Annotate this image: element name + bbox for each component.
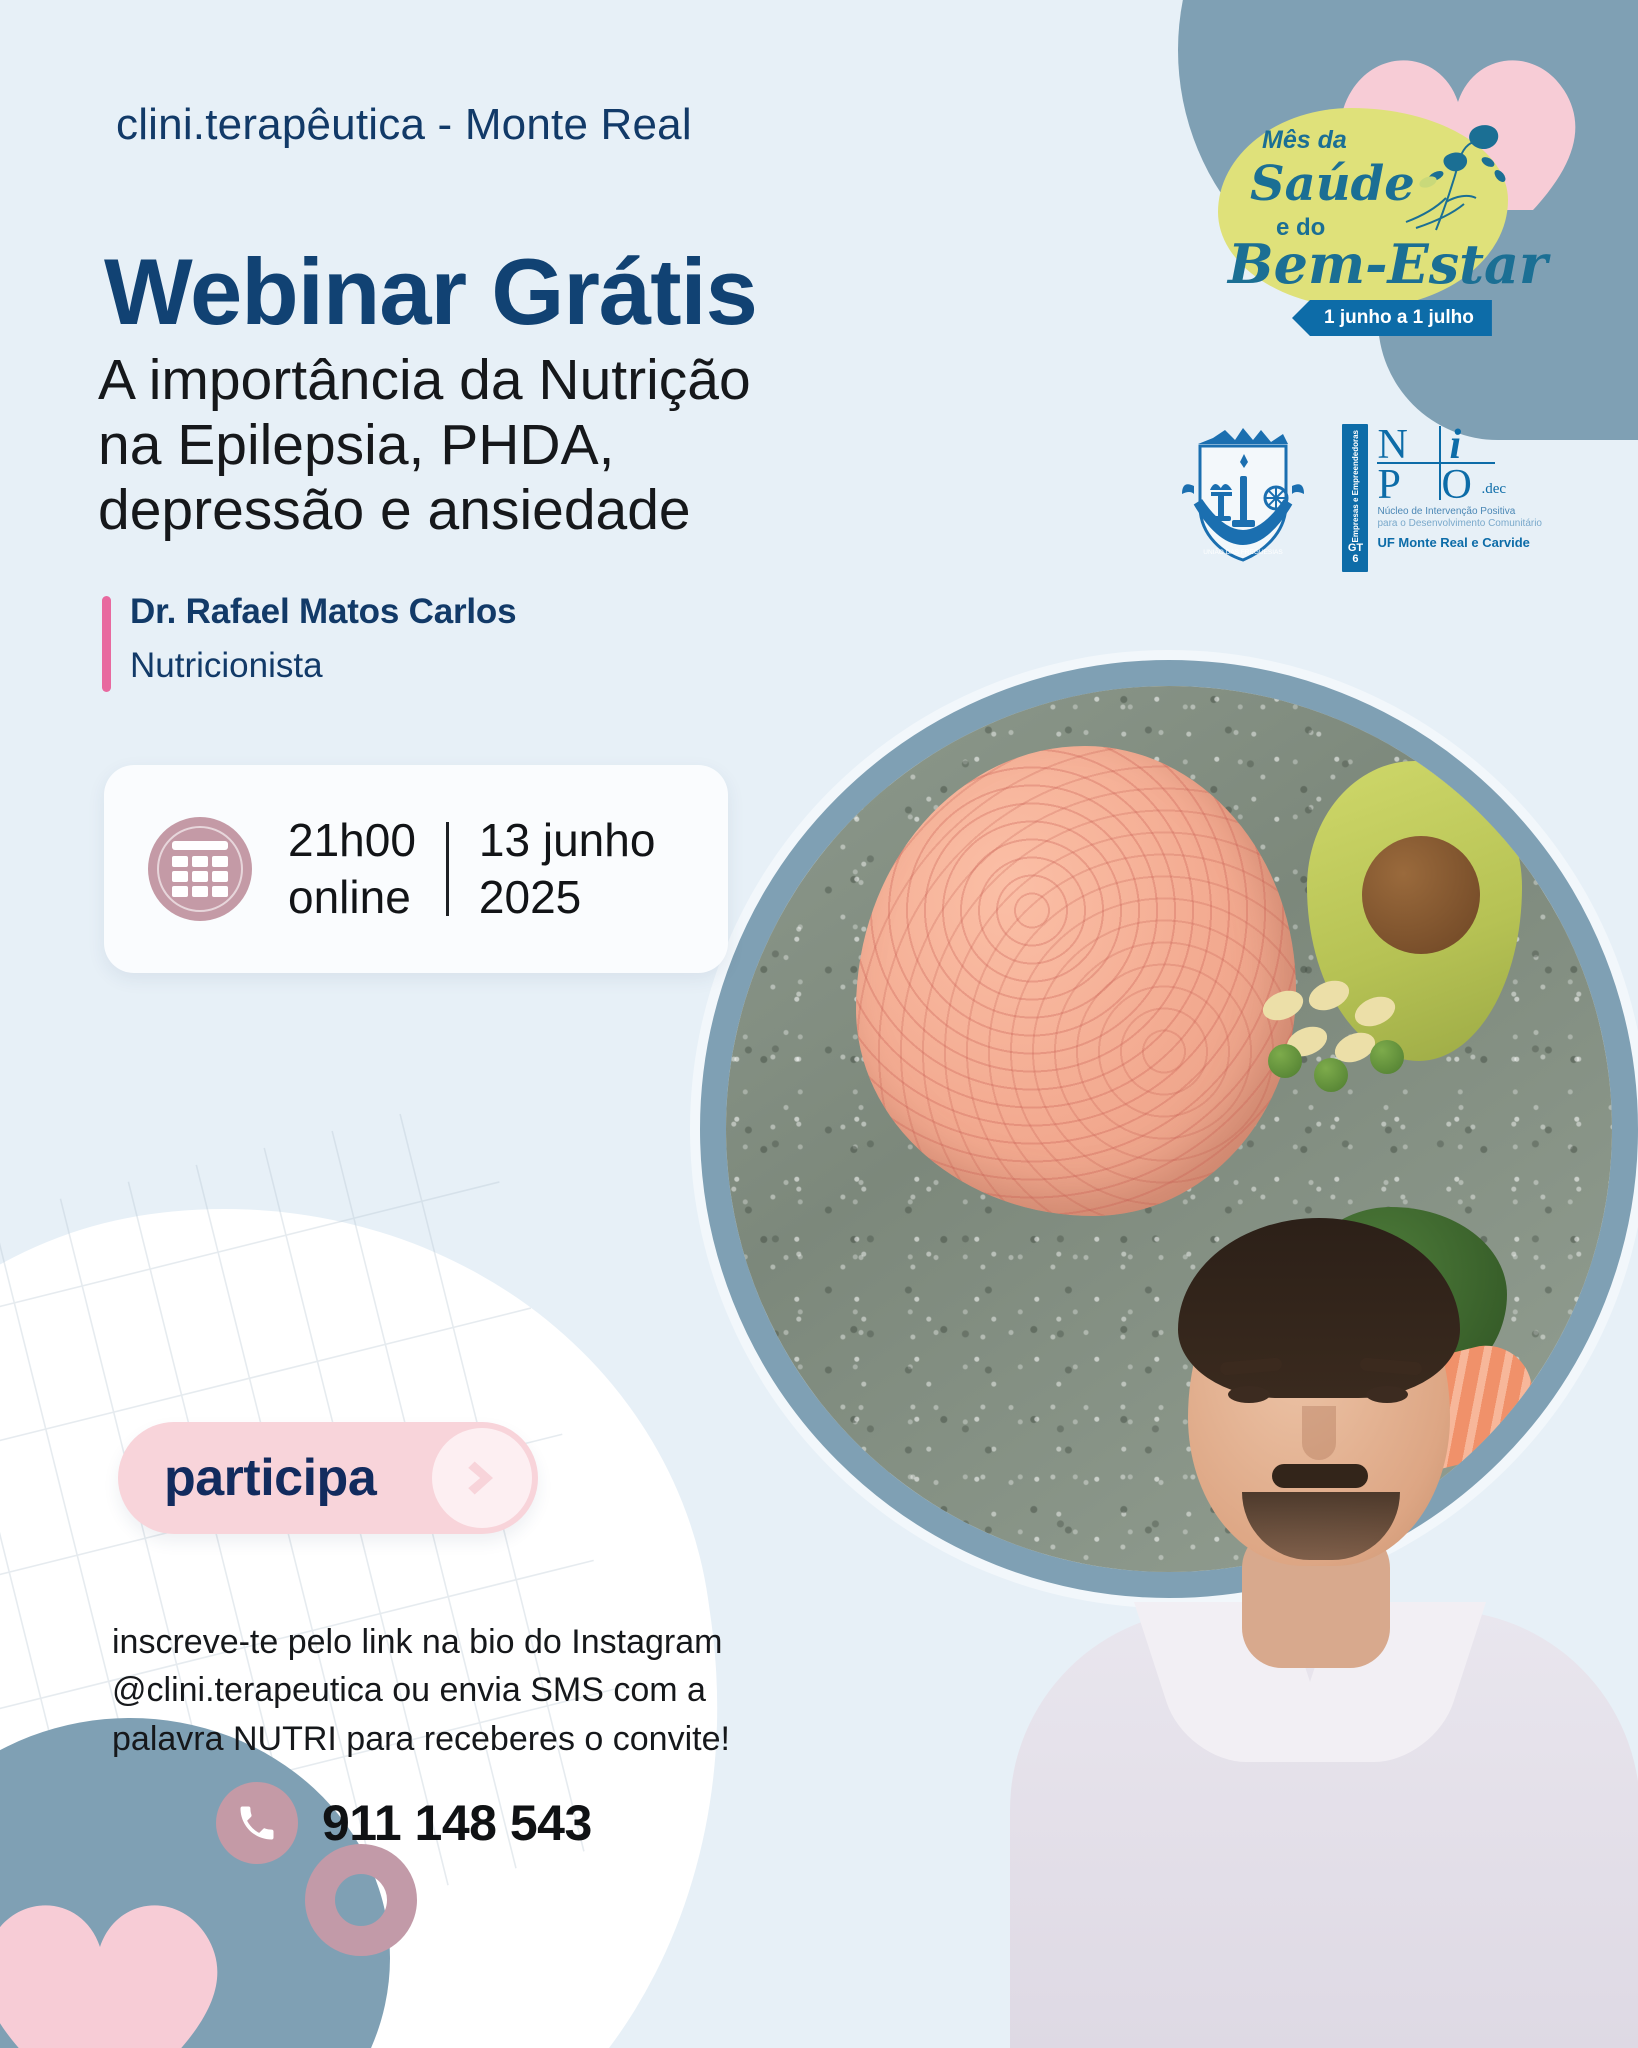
participate-button-label: participa [164,1448,376,1508]
page-title: Webinar Grátis [104,238,757,346]
nipo-letter-p: P [1377,464,1400,506]
poster-root: clini.terapêutica - Monte Real Webinar G… [0,0,1638,2048]
campaign-badge: Mês da Saúde e do Bem-Estar 1 junho a 1 … [1214,104,1514,314]
event-date-column: 13 junho 2025 [479,812,656,927]
portrait-eye-right [1366,1386,1408,1403]
badge-line-4: Bem-Estar [1228,232,1548,296]
speaker-accent-bar [102,596,111,692]
event-time-column: 21h00 online [288,812,416,927]
calendar-icon [148,817,252,921]
nipo-side-bottom-label: GT 6 [1348,543,1363,566]
nipo-letter-o: O [1441,464,1471,506]
heart-icon-bottomleft [0,1868,240,2048]
speaker-portrait-photo [1010,1210,1638,2048]
nipo-letter-dec: .dec [1481,482,1506,497]
portrait-moustache [1272,1464,1368,1488]
clinic-name: clini.terapêutica - Monte Real [116,100,692,150]
speaker-role: Nutricionista [130,646,516,686]
nipo-horizontal-rule [1377,462,1495,464]
event-mode: online [288,869,416,927]
nipo-logo: Empresas e Empreendedoras GT 6 N i P O .… [1342,424,1542,572]
page-subtitle: A importância da Nutrição na Epilepsia, … [98,348,751,543]
speaker-block: Dr. Rafael Matos Carlos Nutricionista [102,592,516,686]
subtitle-line-2: na Epilepsia, PHDA, [98,413,751,478]
beans-group [1262,982,1442,1092]
portrait-nose [1302,1406,1336,1460]
phone-icon [216,1782,298,1864]
nipo-letters: N i P O .dec [1377,424,1495,502]
contact-phone-row[interactable]: 911 148 543 [216,1782,592,1864]
crest-logo: UNIÃO DAS FREGUESIAS [1180,424,1306,574]
chevron-right-icon[interactable] [432,1428,532,1528]
avocado-pit [1362,836,1480,954]
event-year: 2025 [479,869,656,927]
event-details-card: 21h00 online 13 junho 2025 [104,765,728,973]
event-divider [446,822,449,916]
nipo-letter-n: N [1377,424,1407,466]
nipo-subtitle-3: UF Monte Real e Carvide [1377,535,1542,550]
subtitle-line-3: depressão e ansiedade [98,478,751,543]
svg-text:UNIÃO DAS FREGUESIAS: UNIÃO DAS FREGUESIAS [1204,547,1284,556]
badge-date-ribbon: 1 junho a 1 julho [1292,300,1492,336]
subtitle-line-1: A importância da Nutrição [98,348,751,413]
badge-line-1: Mês da [1262,126,1347,155]
speaker-name: Dr. Rafael Matos Carlos [130,592,516,632]
phone-number: 911 148 543 [322,1794,592,1852]
nipo-side-bar: Empresas e Empreendedoras GT 6 [1342,424,1368,572]
event-day-month: 13 junho [479,812,656,870]
portrait-eye-left [1228,1386,1270,1403]
nipo-letter-i: i [1449,424,1461,466]
participate-button[interactable]: participa [118,1422,538,1534]
brain-model [856,746,1296,1216]
registration-instructions: inscreve-te pelo link na bio do Instagra… [112,1618,732,1763]
nipo-subtitle-2: para o Desenvolvimento Comunitário [1377,518,1542,530]
flower-hand-icon [1376,110,1526,240]
event-time: 21h00 [288,812,416,870]
partner-logos: UNIÃO DAS FREGUESIAS Empresas e Empreend… [1180,424,1542,574]
nipo-side-top-label: Empresas e Empreendedoras [1351,430,1360,543]
